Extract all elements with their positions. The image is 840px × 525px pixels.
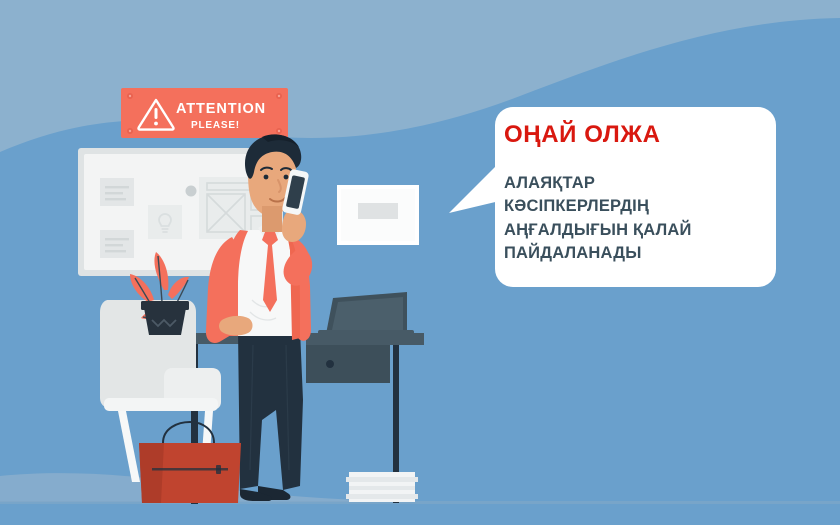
attention-sign: [121, 88, 288, 138]
drawer-handle: [326, 360, 334, 368]
picture-frame: [337, 185, 419, 245]
eye: [284, 175, 289, 180]
floor-line: [0, 501, 840, 504]
speech-bubble: [449, 107, 776, 287]
office-scene-illustration: [0, 0, 840, 525]
illustration-banner: ATTENTION PLEASE! ОҢАЙ ОЛЖА АЛАЯҚТАР КӘС…: [0, 0, 840, 525]
idea-note: [148, 205, 182, 239]
board-magnet: [186, 186, 197, 197]
eye: [264, 175, 269, 180]
paper-stack: [346, 472, 418, 502]
